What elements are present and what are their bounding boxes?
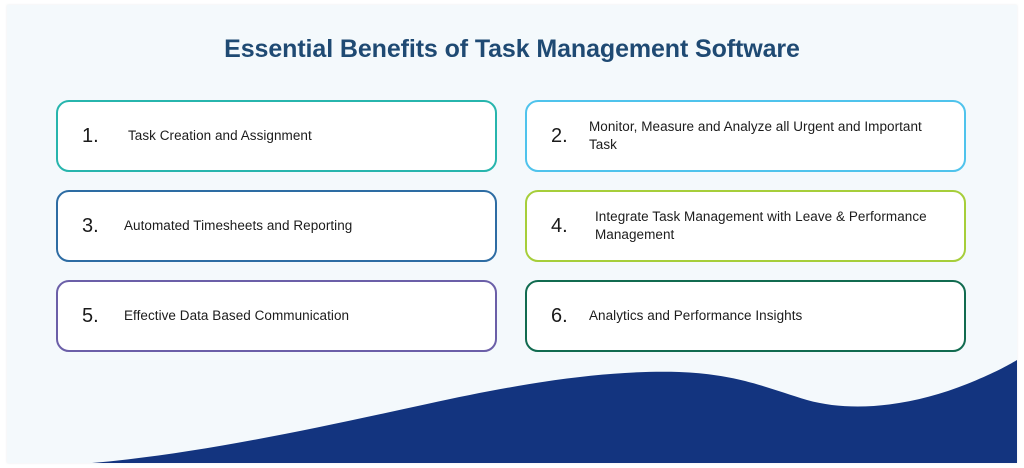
benefit-number-1: 1. bbox=[82, 126, 122, 146]
benefit-card-4[interactable]: 4. Integrate Task Management with Leave … bbox=[525, 190, 966, 262]
infographic-canvas: Essential Benefits of Task Management So… bbox=[0, 0, 1024, 468]
benefit-label-3: Automated Timesheets and Reporting bbox=[122, 217, 481, 235]
benefit-card-2[interactable]: 2. Monitor, Measure and Analyze all Urge… bbox=[525, 100, 966, 172]
benefit-number-2: 2. bbox=[551, 126, 589, 146]
benefit-number-3: 3. bbox=[82, 216, 122, 236]
benefit-label-2: Monitor, Measure and Analyze all Urgent … bbox=[589, 118, 950, 154]
benefit-card-6[interactable]: 6. Analytics and Performance Insights bbox=[525, 280, 966, 352]
page-title: Essential Benefits of Task Management So… bbox=[7, 35, 1017, 64]
benefit-label-4: Integrate Task Management with Leave & P… bbox=[589, 208, 950, 244]
bottom-wave-decoration bbox=[7, 348, 1017, 463]
benefit-number-6: 6. bbox=[551, 306, 589, 326]
benefit-label-1: Task Creation and Assignment bbox=[122, 127, 481, 145]
benefit-card-3[interactable]: 3. Automated Timesheets and Reporting bbox=[56, 190, 497, 262]
benefit-number-4: 4. bbox=[551, 216, 589, 236]
content-panel: Essential Benefits of Task Management So… bbox=[7, 5, 1017, 463]
benefit-label-6: Analytics and Performance Insights bbox=[589, 307, 950, 325]
benefit-label-5: Effective Data Based Communication bbox=[122, 307, 481, 325]
benefit-card-5[interactable]: 5. Effective Data Based Communication bbox=[56, 280, 497, 352]
wave-shape bbox=[92, 360, 1017, 463]
benefit-number-5: 5. bbox=[82, 306, 122, 326]
benefits-card-grid: 1. Task Creation and Assignment 2. Monit… bbox=[56, 100, 966, 352]
benefit-card-1[interactable]: 1. Task Creation and Assignment bbox=[56, 100, 497, 172]
